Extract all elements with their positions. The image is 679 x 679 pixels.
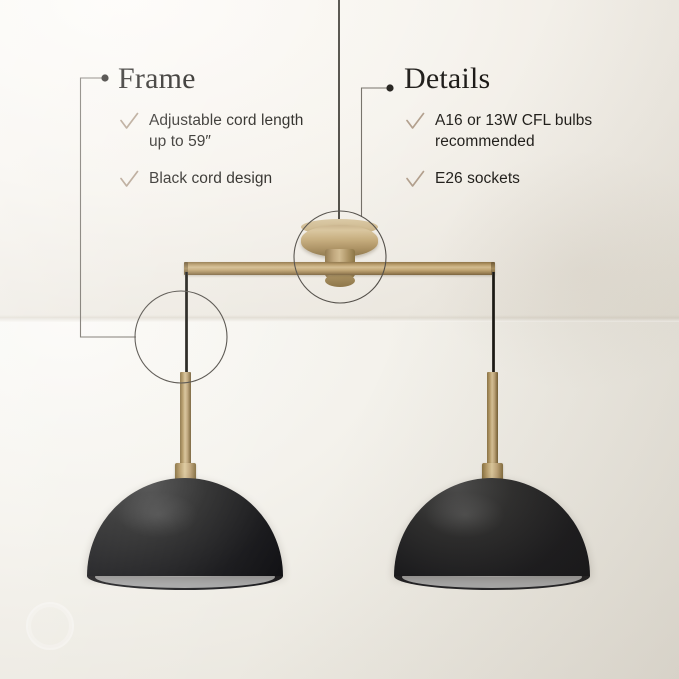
list-item-label: E26 sockets [435,168,520,189]
right-brass-stem [487,372,498,468]
list-item: A16 or 13W CFL bulbs recommended [404,110,640,152]
list-item-label: A16 or 13W CFL bulbs recommended [435,110,592,152]
list-item: E26 sockets [404,168,640,191]
list-item: Black cord design [118,168,354,191]
right-dome-shade [394,478,590,576]
list-item: Adjustable cord length up to 59″ [118,110,354,152]
check-icon [118,169,140,191]
left-dome-shade [87,478,283,576]
details-bullet-list: A16 or 13W CFL bulbs recommended E26 soc… [404,110,640,207]
list-item-line1: Adjustable cord length [149,112,303,129]
left-black-cord [185,272,187,376]
list-item-line1: A16 or 13W CFL bulbs [435,112,592,129]
product-infographic: Frame Adjustable cord length up to 59″ B… [0,0,679,679]
list-item-label: Adjustable cord length up to 59″ [149,110,303,152]
pendant-light-fixture [0,0,679,679]
list-item-line2: up to 59″ [149,133,211,150]
details-heading: Details [404,62,490,96]
canopy-neck-base [325,274,355,287]
list-item-line2: recommended [435,133,535,150]
check-icon [404,111,426,133]
check-icon [404,169,426,191]
list-item-line1: Black cord design [149,170,272,187]
list-item-label: Black cord design [149,168,272,189]
horizontal-brass-bar [184,262,495,275]
check-icon [118,111,140,133]
list-item-line1: E26 sockets [435,170,520,187]
frame-bullet-list: Adjustable cord length up to 59″ Black c… [118,110,354,207]
right-black-cord [492,272,494,376]
frame-heading: Frame [118,62,196,96]
left-brass-stem [180,372,191,468]
